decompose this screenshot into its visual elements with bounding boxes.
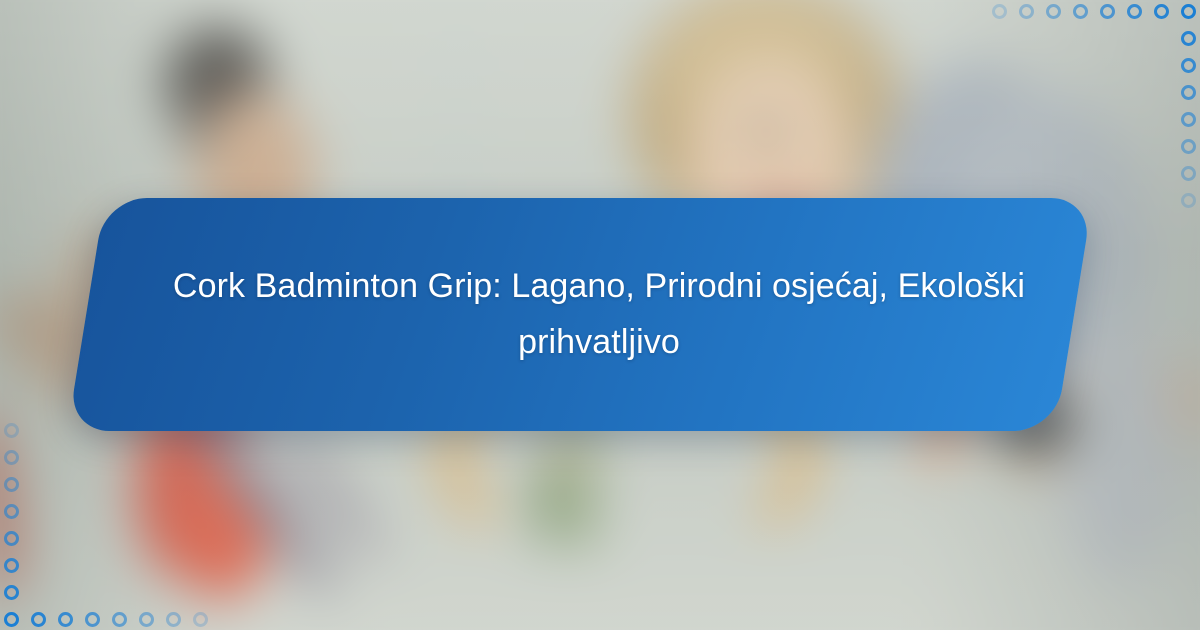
decorative-dot [31,612,46,627]
decorative-dot [193,612,208,627]
decorative-dot [1181,166,1196,181]
decorative-dot [166,612,181,627]
decorative-dot [4,531,19,546]
decorative-dot [4,477,19,492]
decorative-dot [1181,193,1196,208]
page-title: Cork Badminton Grip: Lagano, Prirodni os… [161,259,1037,369]
decorative-dot [4,558,19,573]
social-card-canvas: Cork Badminton Grip: Lagano, Prirodni os… [0,0,1200,630]
decorative-dot [1127,4,1142,19]
decorative-dot [1181,139,1196,154]
decorative-dot [4,504,19,519]
decorative-dot [112,612,127,627]
decorative-dot [1181,4,1196,19]
decorative-dot [1019,4,1034,19]
decorative-dot [1154,4,1169,19]
decorative-dot [4,612,19,627]
decorative-dot [1181,112,1196,127]
decorative-dot [992,4,1007,19]
decorative-dot [139,612,154,627]
decorative-dot [85,612,100,627]
headline-card-text-layer: Cork Badminton Grip: Lagano, Prirodni os… [105,198,1093,431]
decorative-dot [1181,31,1196,46]
decorative-dot [4,450,19,465]
decorative-dot [58,612,73,627]
decorative-dot [1181,85,1196,100]
decorative-dot [4,423,19,438]
decorative-dot [4,585,19,600]
decorative-dot [1100,4,1115,19]
decorative-dot [1073,4,1088,19]
decorative-dot [1046,4,1061,19]
decorative-dot [1181,58,1196,73]
